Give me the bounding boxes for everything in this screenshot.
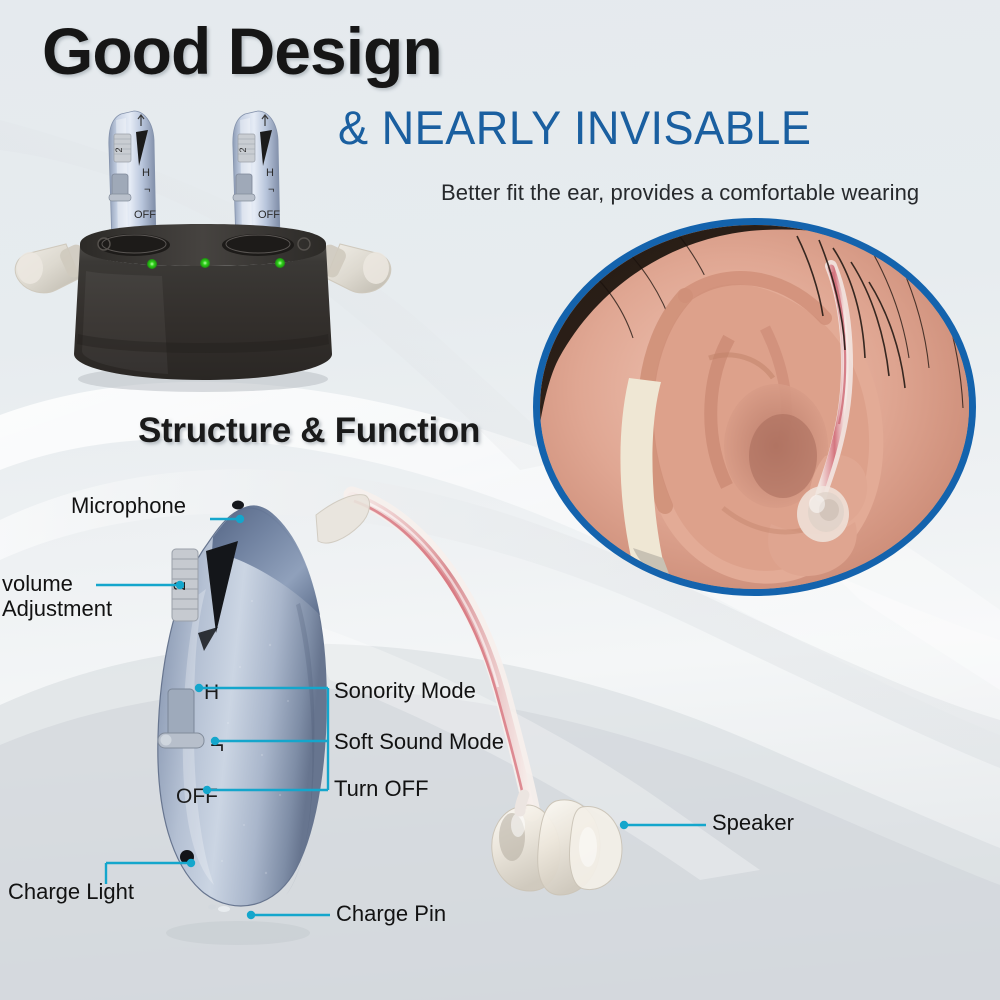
dot-volume <box>176 581 184 589</box>
dot-soft-sound <box>211 737 219 745</box>
callout-label-microphone: Microphone <box>71 494 186 519</box>
dot-turn-off <box>203 786 211 794</box>
infographic-canvas: Good Design & NEARLY INVISABLE Better fi… <box>0 0 1000 1000</box>
callout-label-volume-line1: volume <box>2 572 112 597</box>
callout-label-charge-light: Charge Light <box>8 880 134 905</box>
dot-speaker <box>620 821 628 829</box>
callout-label-sonority-mode: Sonority Mode <box>334 679 476 704</box>
dot-charge-pin <box>247 911 255 919</box>
dot-microphone <box>236 515 244 523</box>
callout-label-volume-line2: Adjustment <box>2 597 112 622</box>
callout-label-speaker: Speaker <box>712 811 794 836</box>
dot-sonority <box>195 684 203 692</box>
dot-charge-light <box>187 859 195 867</box>
callout-label-volume-adjustment: volume Adjustment <box>2 572 112 621</box>
callout-label-soft-sound-mode: Soft Sound Mode <box>334 730 504 755</box>
callout-label-charge-pin: Charge Pin <box>336 902 446 927</box>
callout-label-turn-off: Turn OFF <box>334 777 429 802</box>
